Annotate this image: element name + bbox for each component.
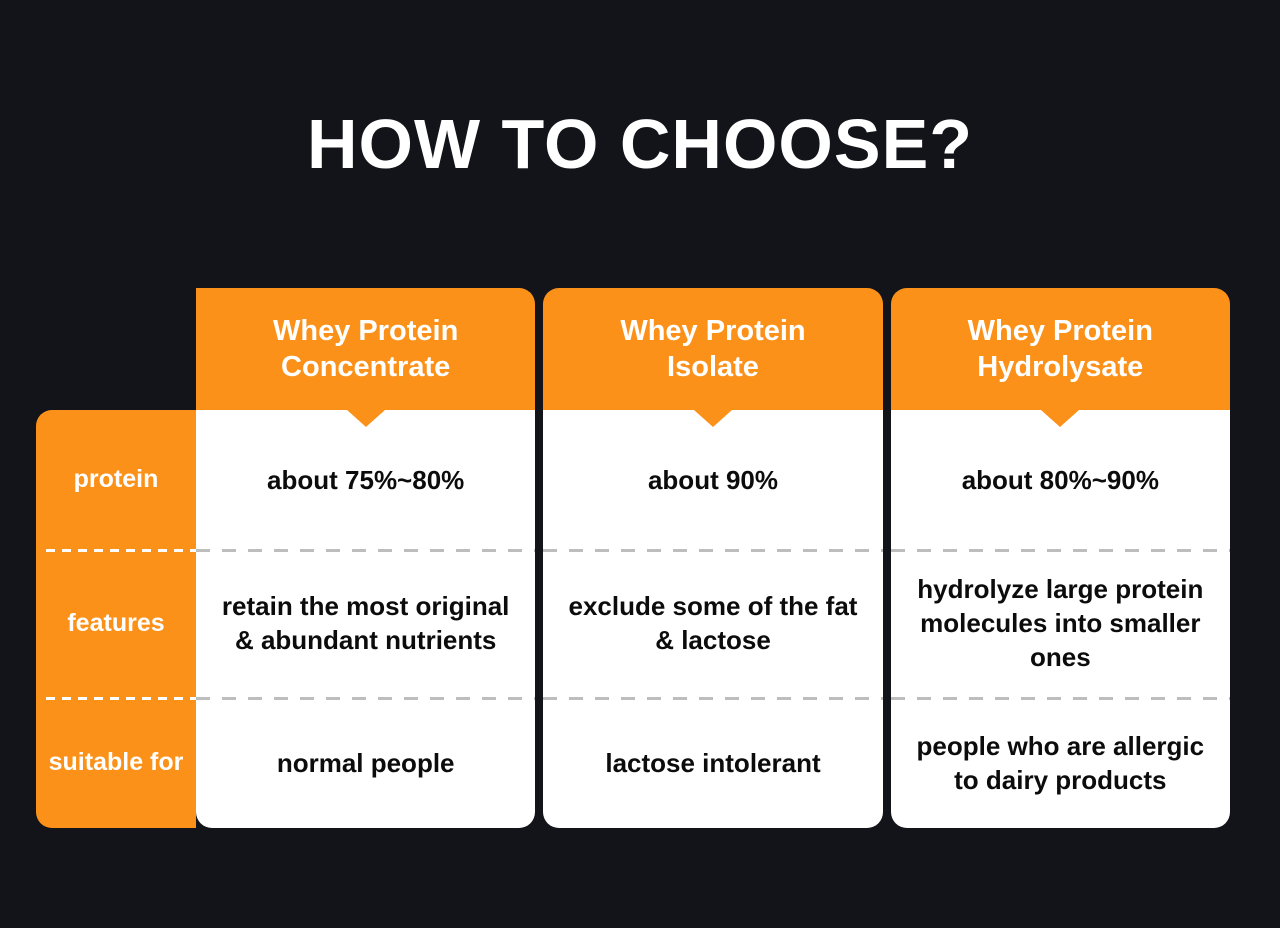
row-label-features: features <box>36 549 196 697</box>
cell-features: hydrolyze large protein molecules into s… <box>891 549 1230 697</box>
cell-divider-2 <box>543 697 882 700</box>
column-header-isolate: Whey Protein Isolate <box>543 288 882 410</box>
cell-divider-1 <box>891 549 1230 552</box>
cell-features: retain the most original & abundant nutr… <box>196 549 535 697</box>
cell-suitable-for: normal people <box>196 697 535 828</box>
cell-protein: about 90% <box>543 410 882 549</box>
column-body-isolate: about 90% exclude some of the fat & lact… <box>543 410 882 828</box>
page-title: HOW TO CHOOSE? <box>0 102 1280 186</box>
header-tail-icon <box>1041 410 1079 427</box>
cell-protein: about 80%~90% <box>891 410 1230 549</box>
cell-divider-2 <box>891 697 1230 700</box>
column-header-text: Whey Protein Isolate <box>620 313 805 385</box>
cell-divider-2 <box>196 697 535 700</box>
cell-suitable-for: lactose intolerant <box>543 697 882 828</box>
row-label-rail: protein features suitable for <box>36 410 196 828</box>
header-tail-icon <box>694 410 732 427</box>
column-body-concentrate: about 75%~80% retain the most original &… <box>196 410 535 828</box>
column-header-concentrate: Whey Protein Concentrate <box>196 288 535 410</box>
cell-features: exclude some of the fat & lactose <box>543 549 882 697</box>
header-tail-icon <box>347 410 385 427</box>
column-body-hydrolysate: about 80%~90% hydrolyze large protein mo… <box>891 410 1230 828</box>
column-whey-protein-isolate[interactable]: Whey Protein Isolate about 90% exclude s… <box>543 288 882 828</box>
column-header-hydrolysate: Whey Protein Hydrolysate <box>891 288 1230 410</box>
column-header-text: Whey Protein Hydrolysate <box>968 313 1153 385</box>
column-whey-protein-concentrate[interactable]: Whey Protein Concentrate about 75%~80% r… <box>196 288 535 828</box>
row-label-suitable-for: suitable for <box>36 697 196 828</box>
cell-divider-1 <box>196 549 535 552</box>
product-columns: Whey Protein Concentrate about 75%~80% r… <box>196 288 1230 828</box>
cell-protein: about 75%~80% <box>196 410 535 549</box>
column-whey-protein-hydrolysate[interactable]: Whey Protein Hydrolysate about 80%~90% h… <box>891 288 1230 828</box>
row-label-protein: protein <box>36 410 196 549</box>
cell-suitable-for: people who are allergic to dairy product… <box>891 697 1230 828</box>
comparison-table: protein features suitable for Whey Prote… <box>36 288 1230 828</box>
cell-divider-1 <box>543 549 882 552</box>
column-header-text: Whey Protein Concentrate <box>273 313 458 385</box>
